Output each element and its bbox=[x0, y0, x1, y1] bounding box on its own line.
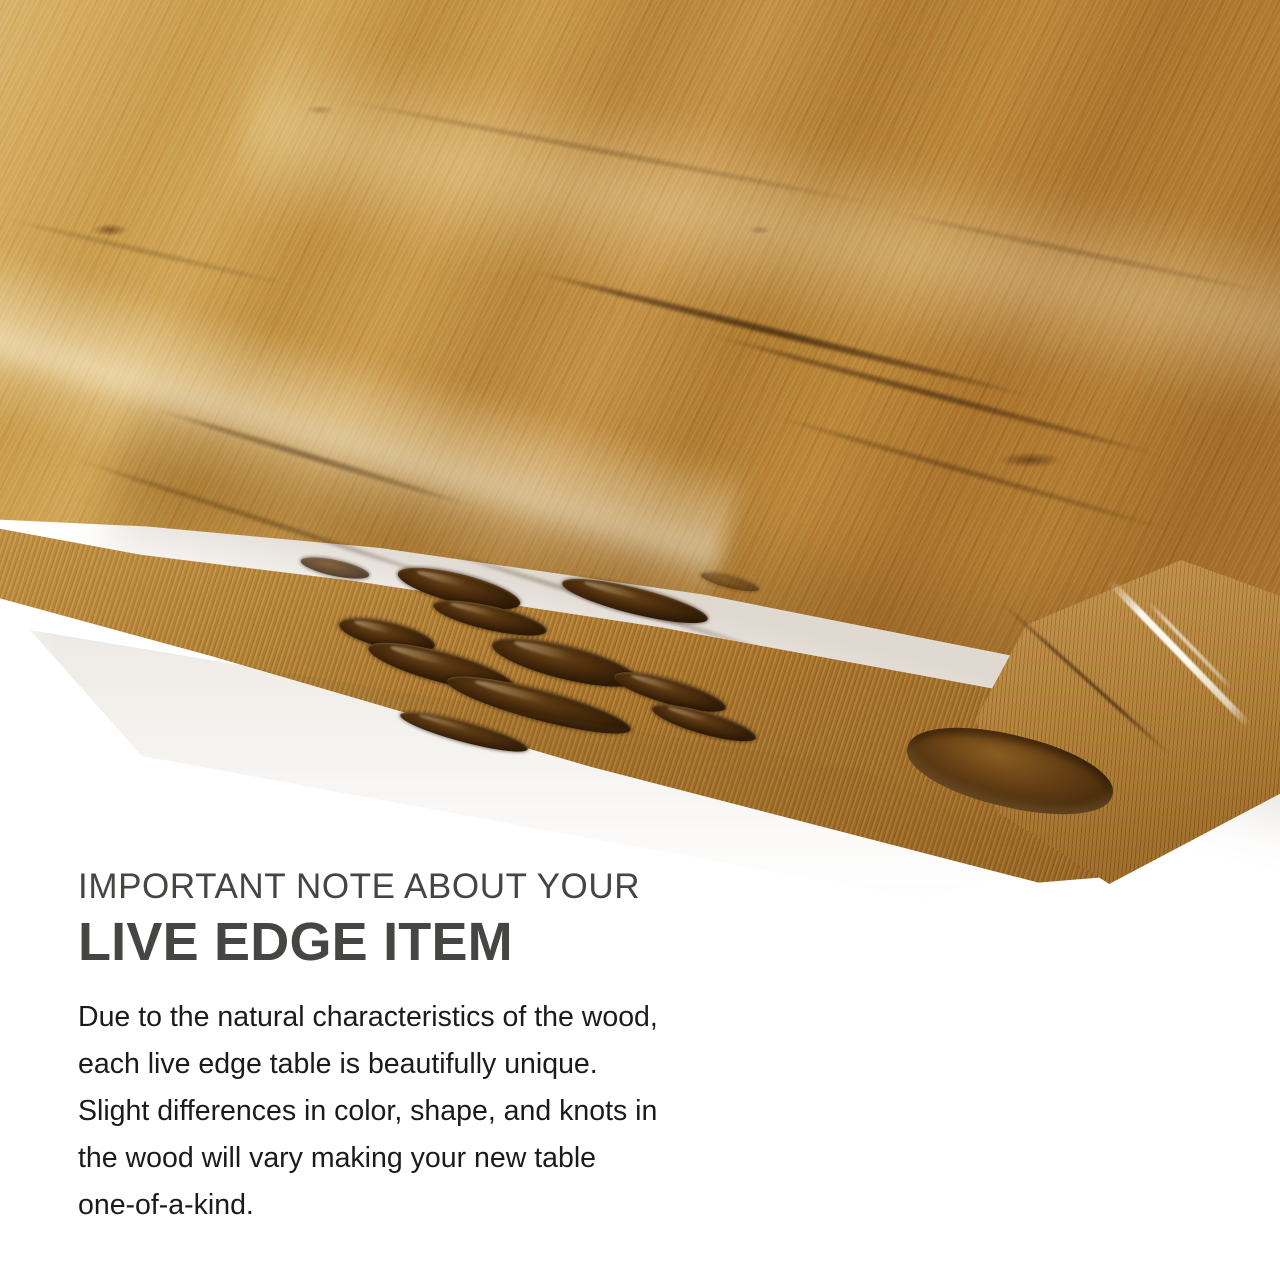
callout-body: Due to the natural characteristics of th… bbox=[78, 994, 728, 1229]
body-line: Slight differences in color, shape, and … bbox=[78, 1088, 728, 1135]
callout-eyebrow: IMPORTANT NOTE ABOUT YOUR bbox=[78, 866, 738, 908]
body-line: each live edge table is beautifully uniq… bbox=[78, 1041, 728, 1088]
marketing-callout-card: IMPORTANT NOTE ABOUT YOUR LIVE EDGE ITEM… bbox=[0, 0, 1280, 1280]
wood-slab-illustration bbox=[0, 0, 1280, 900]
body-line: the wood will vary making your new table bbox=[78, 1135, 728, 1182]
callout-text-block: IMPORTANT NOTE ABOUT YOUR LIVE EDGE ITEM… bbox=[78, 866, 738, 1229]
body-line: one-of-a-kind. bbox=[78, 1182, 728, 1229]
callout-headline: LIVE EDGE ITEM bbox=[78, 912, 738, 972]
product-photo bbox=[0, 0, 1280, 900]
body-line: Due to the natural characteristics of th… bbox=[78, 994, 728, 1041]
